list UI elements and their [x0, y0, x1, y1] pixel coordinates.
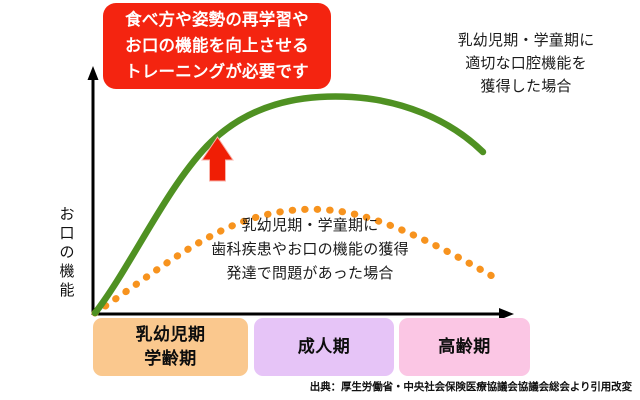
annotation-impaired-line-3: 発達で問題があった場合: [168, 262, 452, 286]
stage-box-adult: 成人期: [254, 318, 394, 376]
stage-elder-line-1: 高齢期: [438, 335, 491, 359]
y-axis-label-char-4: 機: [56, 262, 78, 281]
callout-line-1: 食べ方や姿勢の再学習や: [125, 7, 309, 33]
y-axis: [88, 66, 99, 315]
annotation-healthy-line-1: 乳幼児期・学童期に: [418, 29, 634, 52]
infographic-root: 食べ方や姿勢の再学習や お口の機能を向上させる トレーニングが必要です 乳幼児期…: [0, 0, 640, 400]
stage-adult-line-1: 成人期: [298, 335, 351, 359]
training-callout-box: 食べ方や姿勢の再学習や お口の機能を向上させる トレーニングが必要です: [103, 3, 331, 89]
annotation-healthy-line-2: 適切な口腔機能を: [418, 52, 634, 75]
source-citation: 出典：厚生労働省・中央社会保険医療協議会協議会総会より引用改変: [300, 379, 632, 394]
annotation-impaired-line-2: 歯科疾患やお口の機能の獲得: [168, 238, 452, 262]
y-axis-label: お 口 の 機 能: [56, 205, 78, 300]
annotation-healthy-case: 乳幼児期・学童期に 適切な口腔機能を 獲得した場合: [418, 29, 634, 98]
y-axis-label-char-1: お: [56, 205, 78, 224]
stage-box-elder: 高齢期: [399, 318, 530, 376]
annotation-healthy-line-3: 獲得した場合: [418, 75, 634, 98]
annotation-impaired-line-1: 乳幼児期・学童期に: [168, 214, 452, 238]
callout-line-3: トレーニングが必要です: [125, 59, 309, 85]
y-axis-label-char-3: の: [56, 243, 78, 262]
stage-infant-line-2: 学齢期: [144, 347, 197, 371]
stage-box-infant: 乳幼児期 学齢期: [93, 318, 248, 376]
y-axis-label-char-2: 口: [56, 224, 78, 243]
y-axis-label-char-5: 能: [56, 281, 78, 300]
stage-infant-line-1: 乳幼児期: [136, 323, 206, 347]
annotation-impaired-case: 乳幼児期・学童期に 歯科疾患やお口の機能の獲得 発達で問題があった場合: [168, 214, 452, 286]
y-axis-arrowhead: [88, 66, 99, 80]
callout-line-2: お口の機能を向上させる: [125, 33, 309, 59]
